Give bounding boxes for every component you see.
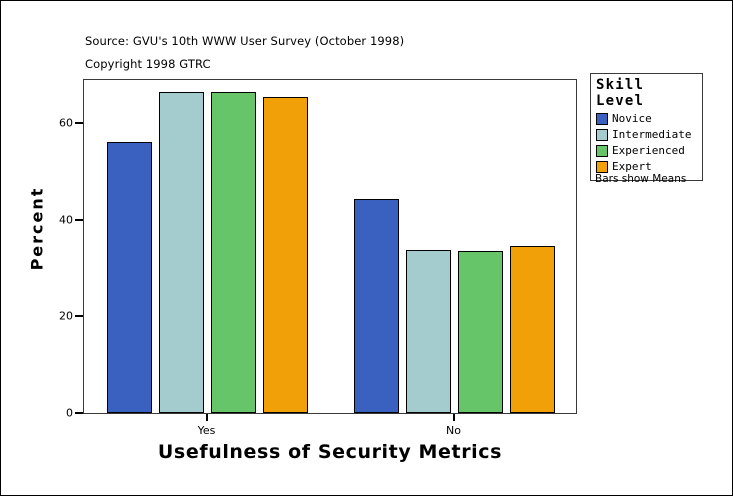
y-tick-mark	[75, 315, 83, 317]
copyright-caption: Copyright 1998 GTRC	[85, 57, 211, 71]
y-tick-mark	[75, 412, 83, 414]
bar-no-intermediate	[406, 250, 451, 413]
source-caption: Source: GVU's 10th WWW User Survey (Octo…	[85, 34, 404, 48]
legend: Skill Level NoviceIntermediateExperience…	[590, 73, 703, 181]
legend-swatch-icon	[596, 161, 608, 173]
bar-no-experienced	[458, 251, 503, 413]
y-tick-label: 40	[59, 213, 73, 226]
legend-item-label: Expert	[612, 161, 652, 173]
legend-item-label: Novice	[612, 113, 652, 125]
x-tick-mark	[453, 414, 455, 421]
x-tick-mark	[206, 414, 208, 421]
y-tick-mark	[75, 219, 83, 221]
x-tick-label: Yes	[198, 424, 216, 437]
y-tick-label: 0	[66, 407, 73, 420]
y-tick-mark	[75, 122, 83, 124]
bar-yes-intermediate	[159, 92, 204, 413]
legend-note: Bars show Means	[595, 173, 686, 185]
legend-item-experienced[interactable]: Experienced	[596, 143, 698, 158]
legend-item-expert[interactable]: Expert	[596, 159, 698, 174]
legend-item-label: Experienced	[612, 145, 685, 157]
bar-no-expert	[510, 246, 555, 413]
legend-swatch-icon	[596, 113, 608, 125]
legend-item-intermediate[interactable]: Intermediate	[596, 127, 698, 142]
x-tick-label: No	[446, 424, 461, 437]
y-axis-tick-labels: 0204060	[41, 79, 73, 414]
legend-swatch-icon	[596, 129, 608, 141]
legend-title: Skill Level	[596, 77, 698, 109]
y-tick-label: 60	[59, 117, 73, 130]
legend-item-novice[interactable]: Novice	[596, 111, 698, 126]
chart-page: Source: GVU's 10th WWW User Survey (Octo…	[0, 0, 733, 496]
x-axis-title: Usefulness of Security Metrics	[83, 441, 577, 463]
bar-yes-experienced	[211, 92, 256, 413]
bar-yes-expert	[263, 97, 308, 413]
y-tick-label: 20	[59, 310, 73, 323]
bar-no-novice	[354, 199, 399, 413]
legend-items: NoviceIntermediateExperiencedExpert	[596, 111, 698, 174]
legend-item-label: Intermediate	[612, 129, 691, 141]
plot-area	[83, 79, 577, 414]
bar-yes-novice	[107, 142, 152, 413]
legend-swatch-icon	[596, 145, 608, 157]
